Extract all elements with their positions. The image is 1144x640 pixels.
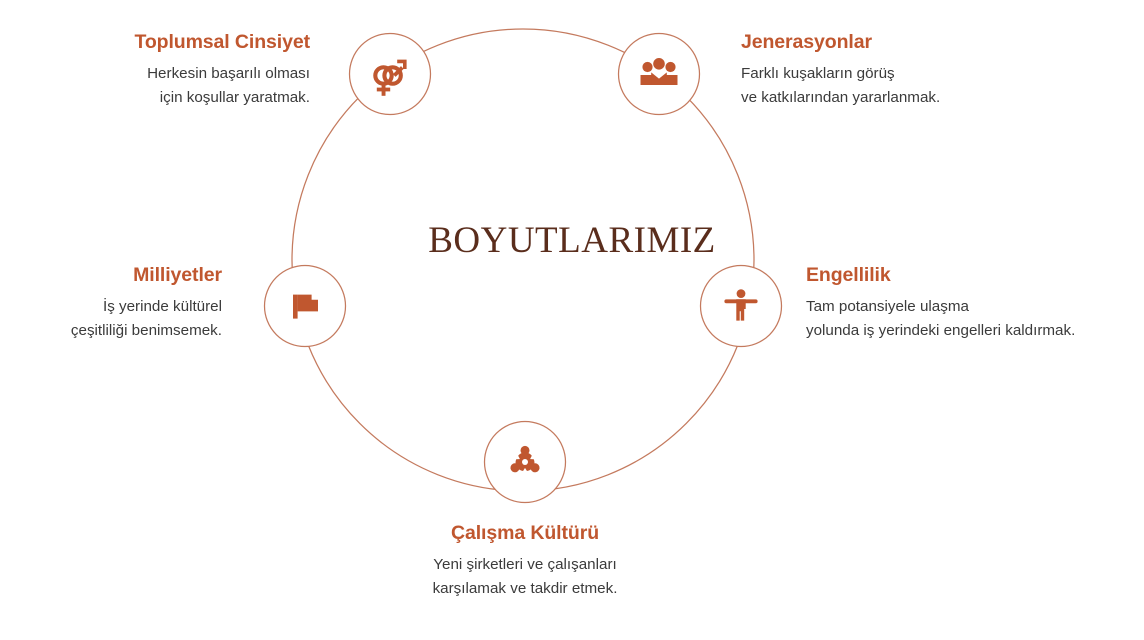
label-calisma-kulturu: Çalışma Kültürü Yeni şirketleri ve çalış… — [325, 521, 725, 601]
label-desc-line-1: İş yerinde kültürel — [0, 295, 222, 319]
label-title: Engellilik — [806, 263, 1144, 287]
node-circle — [619, 34, 700, 115]
label-title: Jenerasyonlar — [741, 30, 1141, 54]
node-milliyetler[interactable] — [265, 266, 346, 347]
label-milliyetler: Milliyetler İş yerinde kültürel çeşitlil… — [0, 263, 222, 343]
label-jenerasyonlar: Jenerasyonlar Farklı kuşakların görüş ve… — [741, 30, 1141, 110]
node-jenerasyonlar[interactable] — [619, 34, 700, 115]
label-desc-line-1: Tam potansiyele ulaşma — [806, 295, 1144, 319]
label-engellilik: Engellilik Tam potansiyele ulaşma yolund… — [806, 263, 1144, 343]
label-desc-line-2: karşılamak ve takdir etmek. — [325, 577, 725, 601]
label-title: Toplumsal Cinsiyet — [0, 30, 310, 54]
label-title: Çalışma Kültürü — [325, 521, 725, 545]
node-toplumsal-cinsiyet[interactable] — [350, 34, 431, 115]
node-engellilik[interactable] — [701, 266, 782, 347]
label-title: Milliyetler — [0, 263, 222, 287]
diagram-stage: BOYUTLARIMIZ Toplumsal Cinsiyet Herkesin… — [0, 0, 1144, 640]
node-calisma-kulturu[interactable] — [485, 422, 566, 503]
label-desc-line-1: Farklı kuşakların görüş — [741, 62, 1141, 86]
label-desc-line-1: Yeni şirketleri ve çalışanları — [325, 553, 725, 577]
label-desc-line-2: yolunda iş yerindeki engelleri kaldırmak… — [806, 319, 1144, 343]
page-title: BOYUTLARIMIZ — [0, 219, 1144, 262]
label-desc-line-2: çeşitliliği benimsemek. — [0, 319, 222, 343]
label-desc-line-2: ve katkılarından yararlanmak. — [741, 86, 1141, 110]
label-desc-line-2: için koşullar yaratmak. — [0, 86, 310, 110]
label-desc-line-1: Herkesin başarılı olması — [0, 62, 310, 86]
label-toplumsal-cinsiyet: Toplumsal Cinsiyet Herkesin başarılı olm… — [0, 30, 310, 110]
